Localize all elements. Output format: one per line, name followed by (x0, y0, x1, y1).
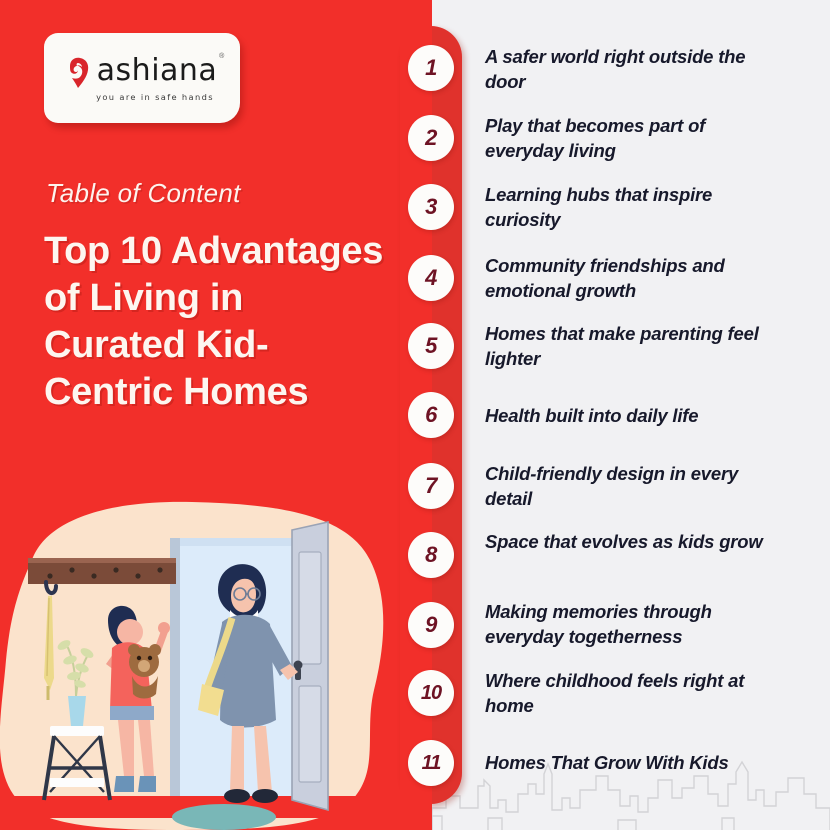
list-item-text: Space that evolves as kids grow (485, 529, 785, 554)
list-item-text: Where childhood feels right at home (485, 668, 785, 718)
list-number-badge[interactable]: 9 (408, 602, 454, 648)
list-number-badge[interactable]: 6 (408, 392, 454, 438)
list-item-text: Making memories through everyday togethe… (485, 599, 785, 649)
toc-list: 1 A safer world right outside the door 2… (0, 0, 830, 830)
list-number-badge[interactable]: 8 (408, 532, 454, 578)
list-item-text: A safer world right outside the door (485, 44, 785, 94)
list-item-text: Homes That Grow With Kids (485, 750, 785, 775)
list-number-badge[interactable]: 11 (408, 740, 454, 786)
list-item-text: Learning hubs that inspire curiosity (485, 182, 785, 232)
list-number-badge[interactable]: 4 (408, 255, 454, 301)
list-number-badge[interactable]: 5 (408, 323, 454, 369)
list-number-badge[interactable]: 3 (408, 184, 454, 230)
list-number-badge[interactable]: 10 (408, 670, 454, 716)
list-item-text: Child-friendly design in every detail (485, 461, 785, 511)
list-item-text: Play that becomes part of everyday livin… (485, 113, 785, 163)
infographic-canvas: ashiana ® you are in safe hands Table of… (0, 0, 830, 830)
list-number-badge[interactable]: 2 (408, 115, 454, 161)
list-number-badge[interactable]: 1 (408, 45, 454, 91)
list-item-text: Homes that make parenting feel lighter (485, 321, 785, 371)
list-item-text: Health built into daily life (485, 403, 785, 428)
list-item-text: Community friendships and emotional grow… (485, 253, 785, 303)
list-number-badge[interactable]: 7 (408, 463, 454, 509)
